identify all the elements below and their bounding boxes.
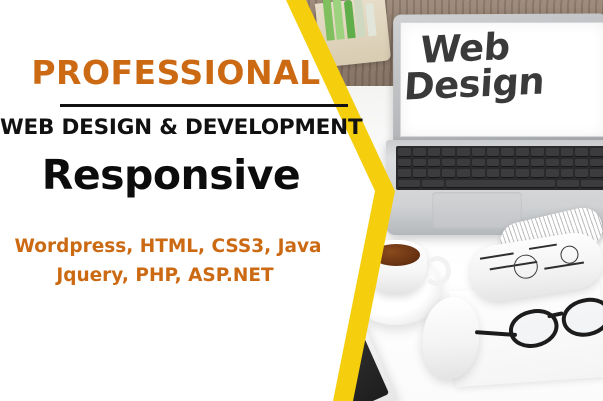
headline-professional: PROFESSIONAL	[0, 56, 352, 89]
technology-list: Wordpress, HTML, CSS3, Java Jquery, PHP,…	[0, 233, 336, 290]
cup-handle	[423, 256, 451, 286]
laptop-keyboard	[396, 146, 603, 190]
screen-text-line-2: Design	[403, 61, 599, 106]
technology-list-line-1: Wordpress, HTML, CSS3, Java	[0, 233, 336, 262]
laptop-trackpad	[432, 192, 522, 228]
technology-list-line-2: Jquery, PHP, ASP.NET	[0, 262, 336, 291]
headline-divider-rule	[60, 104, 348, 107]
colored-pencils-in-holder	[319, 0, 384, 41]
headline-web-design-development: WEB DESIGN & DEVELOPMENT	[0, 117, 352, 139]
headline-responsive: Responsive	[0, 155, 342, 196]
laptop-screen: Web Design	[400, 22, 603, 137]
web-design-promo-banner: Web Design	[0, 0, 603, 401]
laptop-screen-handwriting: Web Design	[417, 25, 601, 106]
